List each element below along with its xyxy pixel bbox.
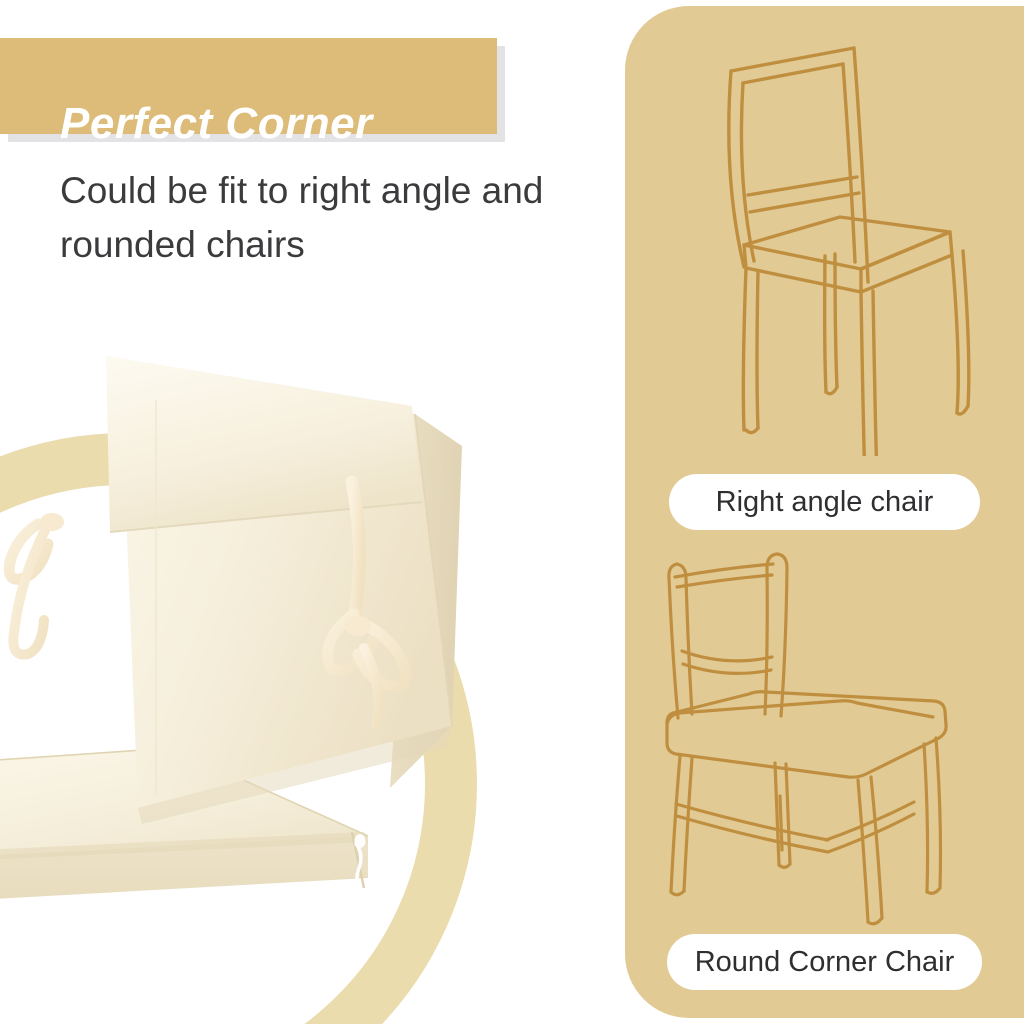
seat-cushion-part [0, 748, 368, 902]
right-angle-chair-icon [625, 20, 1024, 456]
badge-round-corner-chair-label: Round Corner Chair [695, 948, 955, 977]
page-title: Perfect Corner [60, 96, 480, 152]
chair-cushion-photo [0, 296, 500, 956]
title-banner: Perfect Corner [0, 38, 497, 134]
zipper-pull-icon [356, 844, 361, 890]
page-subtitle: Could be fit to right angle and rounded … [60, 164, 620, 272]
product-infographic: Perfect Corner Could be fit to right ang… [0, 0, 1024, 1024]
round-corner-chair-icon [625, 534, 1024, 934]
chair-types-panel: Right angle chair [625, 6, 1024, 1018]
badge-right-angle-chair-label: Right angle chair [716, 488, 934, 517]
cushion-tie-left [9, 513, 64, 655]
badge-round-corner-chair: Round Corner Chair [667, 934, 982, 990]
back-cushion-part [106, 356, 462, 824]
decorative-ring [0, 414, 496, 1024]
cushion-tie-right [328, 482, 406, 724]
badge-right-angle-chair: Right angle chair [669, 474, 980, 530]
